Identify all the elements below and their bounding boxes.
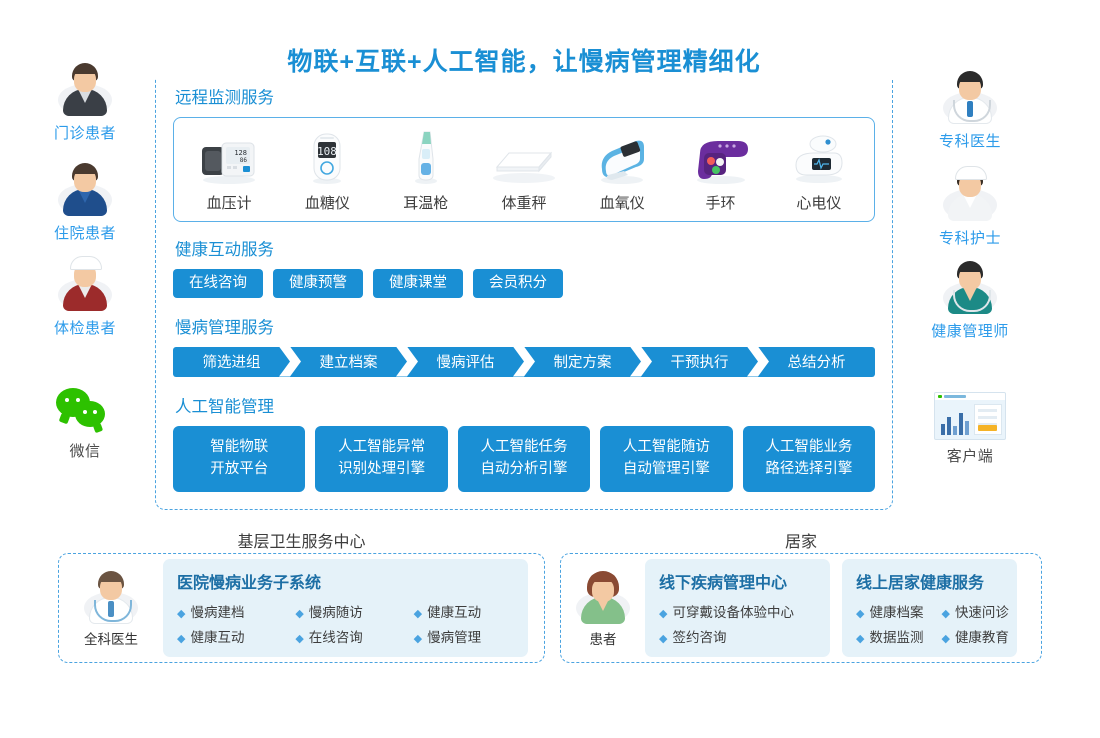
device-item[interactable]: 耳温枪 [383,129,469,213]
bullet-item[interactable]: ◆慢病管理 [414,626,514,646]
ai-card[interactable]: 人工智能异常 识别处理引擎 [315,426,447,492]
chronic-process-flow: 筛选进组 建立档案 慢病评估 制定方案 干预执行 总结分析 [173,347,875,377]
bullet-item[interactable]: ◆可穿戴设备体验中心 [659,601,816,621]
online-home-health-card: 线上居家健康服务 ◆健康档案 ◆快速问诊 ◆数据监测 ◆健康教育 [842,559,1017,657]
ai-card-line2: 识别处理引擎 [338,459,425,480]
device-name: 心电仪 [776,192,862,213]
persona-label: 门诊患者 [20,122,150,143]
device-name: 血氧仪 [579,192,665,213]
card-bullet-list: ◆健康档案 ◆快速问诊 ◆数据监测 ◆健康教育 [856,601,1003,646]
blood-pressure-monitor-icon: 128 86 [186,129,272,185]
persona-specialist-doctor: 专科医生 [905,68,1035,151]
persona-inpatient: 住院患者 [20,160,150,243]
persona-label: 健康管理师 [905,320,1035,341]
bullet-item[interactable]: ◆健康互动 [177,626,277,646]
bullet-item[interactable]: ◆慢病建档 [177,601,277,621]
device-name: 手环 [678,192,764,213]
section-header-remote: 远程监测服务 [175,84,875,108]
device-item[interactable]: 血氧仪 [579,129,665,213]
interaction-button-group: 在线咨询 健康预警 健康课堂 会员积分 [173,269,875,298]
bullet-item[interactable]: ◆健康互动 [414,601,514,621]
interaction-button[interactable]: 健康课堂 [373,269,463,298]
flow-step[interactable]: 总结分析 [758,347,875,377]
flow-step[interactable]: 干预执行 [641,347,758,377]
flow-step[interactable]: 建立档案 [290,347,407,377]
device-name: 血压计 [186,192,272,213]
specialist-doctor-avatar [941,68,999,126]
ai-card[interactable]: 人工智能任务 自动分析引擎 [458,426,590,492]
section-header-chronic: 慢病管理服务 [175,314,875,338]
hospital-chronic-subsystem-card: 医院慢病业务子系统 ◆慢病建档 ◆慢病随访 ◆健康互动 ◆健康互动 ◆在线咨询 … [163,559,528,657]
interaction-button[interactable]: 健康预警 [273,269,363,298]
device-strip: 128 86 血压计 108 [173,117,875,222]
persona-gp: 全科医生 [59,568,163,648]
outpatient-avatar [56,60,114,118]
device-item[interactable]: 心电仪 [776,129,862,213]
persona-patient: 患者 [561,568,645,648]
persona-specialist-nurse: 专科护士 [905,165,1035,248]
group-label-home: 居家 [560,528,1042,552]
card-title: 线下疾病管理中心 [659,569,816,593]
general-practitioner-avatar [82,568,140,626]
offline-disease-center-card: 线下疾病管理中心 ◆可穿戴设备体验中心 ◆签约咨询 [645,559,830,657]
glucose-meter-icon: 108 [284,129,370,185]
svg-text:108: 108 [317,145,337,158]
bullet-item[interactable]: ◆快速问诊 [941,601,1008,621]
ai-card-line1: 人工智能异常 [338,437,425,458]
svg-text:86: 86 [240,157,248,164]
card-title: 线上居家健康服务 [856,569,1003,593]
ai-card-line1: 人工智能任务 [481,437,568,458]
persona-label: 专科护士 [905,227,1035,248]
ai-card-group: 智能物联 开放平台 人工智能异常 识别处理引擎 人工智能任务 自动分析引擎 人工… [173,426,875,492]
ai-card-line1: 智能物联 [210,437,268,458]
persona-label: 微信 [20,440,150,461]
persona-label: 患者 [561,628,645,648]
persona-label: 专科医生 [905,130,1035,151]
bullet-item[interactable]: ◆慢病随访 [295,601,395,621]
persona-client: 客户端 [905,392,1035,466]
persona-label: 住院患者 [20,222,150,243]
main-panel-content: 远程监测服务 128 86 [173,84,875,492]
bullet-item[interactable]: ◆签约咨询 [659,626,816,646]
inpatient-avatar [56,160,114,218]
community-center-panel: 全科医生 医院慢病业务子系统 ◆慢病建档 ◆慢病随访 ◆健康互动 ◆健康互动 ◆… [58,553,545,663]
ai-card-line1: 人工智能随访 [623,437,710,458]
ai-card[interactable]: 智能物联 开放平台 [173,426,305,492]
group-label-community: 基层卫生服务中心 [58,528,545,552]
persona-label: 全科医生 [59,628,163,648]
client-dashboard-thumbnail [934,392,1006,440]
ai-card-line1: 人工智能业务 [765,437,852,458]
bullet-item[interactable]: ◆在线咨询 [295,626,395,646]
device-name: 体重秤 [481,192,567,213]
ai-card-line2: 自动分析引擎 [481,459,568,480]
persona-checkup: 体检患者 [20,255,150,338]
section-header-ai: 人工智能管理 [175,393,875,417]
interaction-button[interactable]: 在线咨询 [173,269,263,298]
patient-avatar [574,568,632,626]
bullet-item[interactable]: ◆健康教育 [941,626,1008,646]
persona-label: 体检患者 [20,317,150,338]
flow-step[interactable]: 制定方案 [524,347,641,377]
ai-card-line2: 开放平台 [210,459,268,480]
device-name: 血糖仪 [284,192,370,213]
section-header-interaction: 健康互动服务 [175,236,875,260]
checkup-avatar [56,255,114,313]
health-manager-avatar [941,258,999,316]
persona-health-manager: 健康管理师 [905,258,1035,341]
ai-card[interactable]: 人工智能随访 自动管理引擎 [600,426,732,492]
device-item[interactable]: 手环 [678,129,764,213]
ai-card-line2: 路径选择引擎 [765,459,852,480]
device-item[interactable]: 体重秤 [481,129,567,213]
card-bullet-list: ◆可穿戴设备体验中心 ◆签约咨询 [659,601,816,646]
svg-text:128: 128 [234,149,247,157]
card-bullet-list: ◆慢病建档 ◆慢病随访 ◆健康互动 ◆健康互动 ◆在线咨询 ◆慢病管理 [177,601,514,646]
card-title: 医院慢病业务子系统 [177,569,514,593]
specialist-nurse-avatar [941,165,999,223]
device-name: 耳温枪 [383,192,469,213]
ai-card[interactable]: 人工智能业务 路径选择引擎 [743,426,875,492]
smart-band-icon [678,129,764,185]
infographic-canvas: 门诊患者 住院患者 体检患者 [0,0,1100,738]
bullet-item[interactable]: ◆数据监测 [856,626,923,646]
pulse-oximeter-icon [579,129,665,185]
page-title: 物联+互联+人工智能，让慢病管理精细化 [155,42,893,78]
weight-scale-icon [481,129,567,185]
persona-label: 客户端 [905,445,1035,466]
ai-card-line2: 自动管理引擎 [623,459,710,480]
persona-outpatient: 门诊患者 [20,60,150,143]
persona-wechat: 微信 [20,382,150,461]
device-item[interactable]: 128 86 血压计 [186,129,272,213]
device-item[interactable]: 108 血糖仪 [284,129,370,213]
interaction-button[interactable]: 会员积分 [473,269,563,298]
ecg-device-icon [776,129,862,185]
ear-thermometer-icon [383,129,469,185]
wechat-icon [56,388,114,434]
flow-step[interactable]: 慢病评估 [407,347,524,377]
flow-step[interactable]: 筛选进组 [173,347,290,377]
home-care-panel: 患者 线下疾病管理中心 ◆可穿戴设备体验中心 ◆签约咨询 线上居家健康服务 ◆健… [560,553,1042,663]
bullet-item[interactable]: ◆健康档案 [856,601,923,621]
